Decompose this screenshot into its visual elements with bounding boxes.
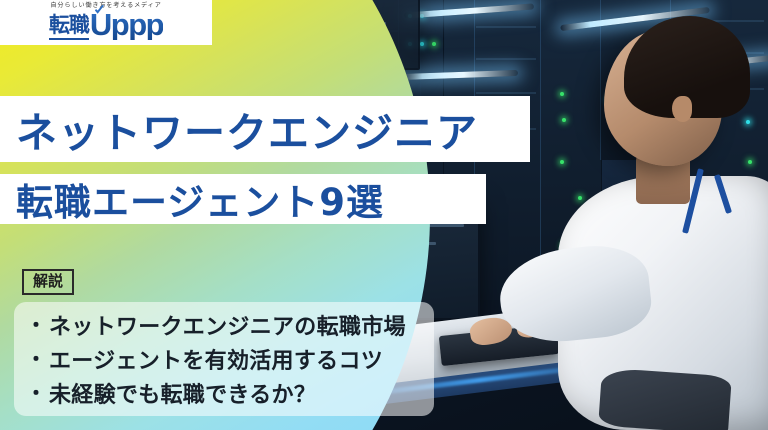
rack-led-indicator bbox=[562, 118, 566, 122]
site-logo[interactable]: 自分らしい働き方を考えるメディア 転職 Uppp bbox=[0, 0, 212, 45]
logo-japanese-text: 転職 bbox=[49, 15, 89, 40]
article-thumbnail-banner: 自分らしい働き方を考えるメディア 転職 Uppp ネットワークエンジニア 転職エ… bbox=[0, 0, 768, 430]
rack-led-indicator bbox=[578, 196, 582, 200]
rack-led-indicator bbox=[420, 42, 424, 46]
list-item-label: ネットワークエンジニアの転職市場 bbox=[49, 309, 406, 341]
rack-detail-line bbox=[476, 26, 536, 28]
bullet-marker-icon: ・ bbox=[26, 349, 42, 369]
person-trousers bbox=[598, 368, 732, 430]
rack-detail-line bbox=[476, 58, 536, 60]
category-tag: 解説 bbox=[22, 269, 74, 295]
person-ear bbox=[672, 96, 692, 122]
bullet-marker-icon: ・ bbox=[26, 315, 42, 335]
monitor-code-line bbox=[424, 224, 464, 227]
title-band-line2: 転職エージェント9選 bbox=[0, 174, 486, 224]
logo-wordmark: 転職 Uppp bbox=[49, 10, 163, 39]
rack-led-indicator bbox=[560, 92, 564, 96]
page-title-line1: ネットワークエンジニア bbox=[0, 99, 478, 159]
list-item: ・ ネットワークエンジニアの転職市場 bbox=[26, 308, 434, 342]
logo-latin-text: Uppp bbox=[90, 10, 163, 39]
list-item-label: 未経験でも転職できるか？ bbox=[49, 377, 316, 409]
check-mark-icon bbox=[94, 5, 105, 16]
bullet-marker-icon: ・ bbox=[26, 383, 42, 403]
title-band-line1: ネットワークエンジニア bbox=[0, 96, 530, 162]
rack-led-indicator bbox=[560, 160, 564, 164]
rack-detail-line bbox=[476, 92, 536, 94]
list-item: ・ エージェントを有効活用するコツ bbox=[26, 342, 434, 376]
bullet-list-card: ・ ネットワークエンジニアの転職市場 ・ エージェントを有効活用するコツ ・ 未… bbox=[14, 302, 434, 416]
rack-led-indicator bbox=[432, 42, 436, 46]
rack-led-indicator bbox=[748, 160, 752, 164]
page-title-line2: 転職エージェント9選 bbox=[0, 172, 384, 226]
rack-led-indicator bbox=[746, 120, 750, 124]
list-item: ・ 未経験でも転職できるか？ bbox=[26, 376, 434, 410]
list-item-label: エージェントを有効活用するコツ bbox=[49, 343, 383, 375]
